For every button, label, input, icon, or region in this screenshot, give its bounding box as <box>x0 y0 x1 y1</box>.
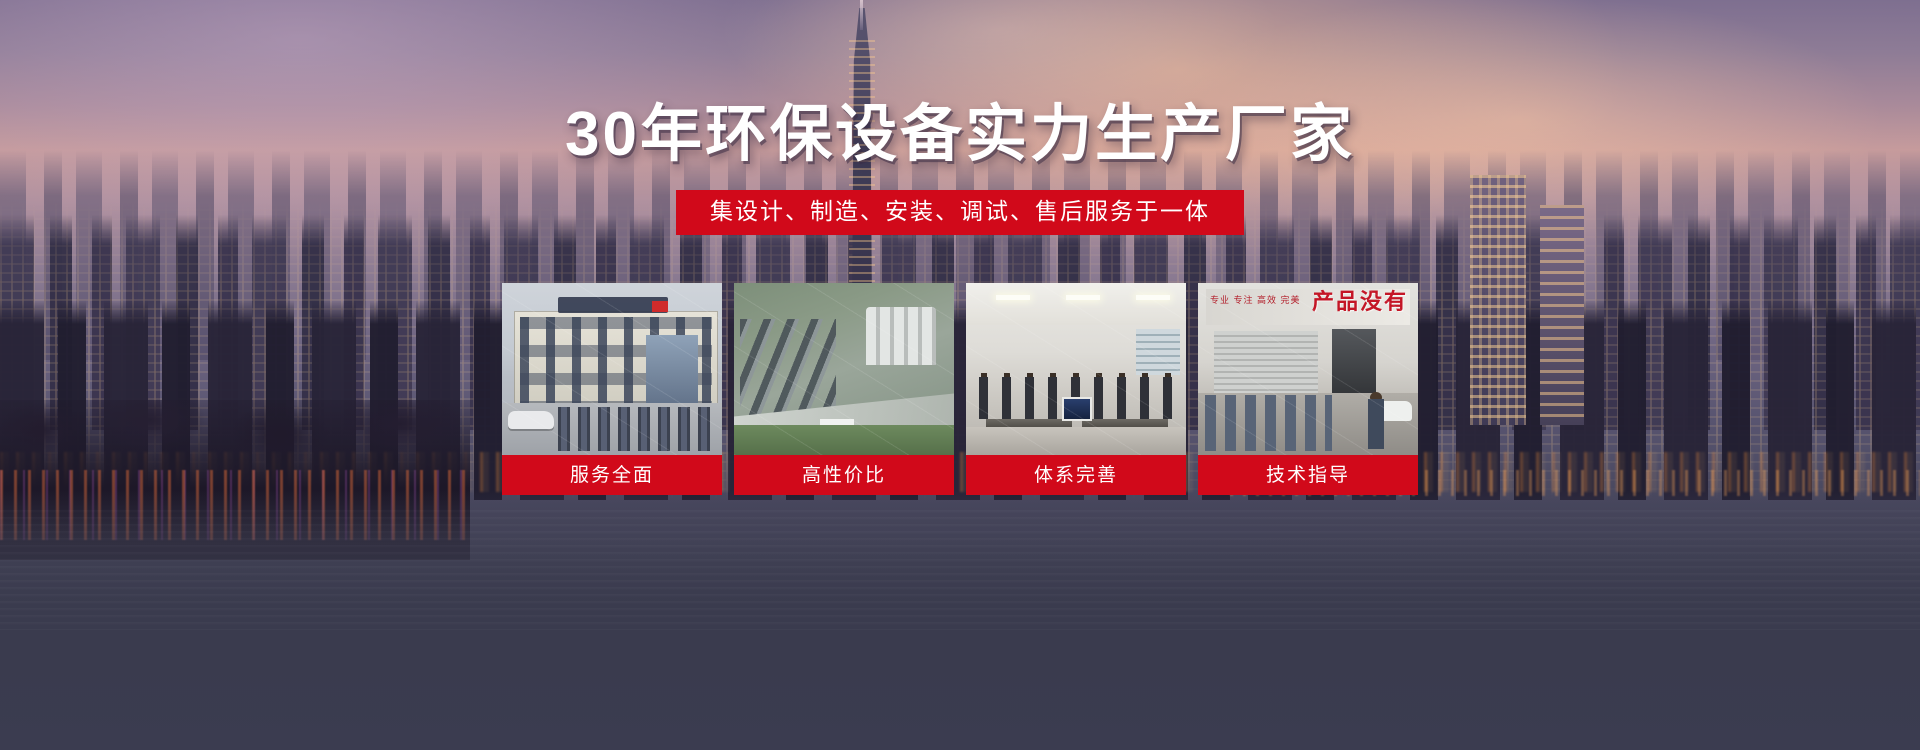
production-plant-illustration <box>734 283 954 455</box>
promo-card-photo-system <box>966 283 1186 455</box>
promo-card-photo-guidance: 专业 专注 高效 完美 产品没有 <box>1198 283 1418 455</box>
promo-card-photo-service <box>502 283 722 455</box>
promo-card-label-guidance: 技术指导 <box>1198 455 1418 495</box>
river-reflection <box>0 510 1920 630</box>
promo-card-strip: 服务全面 高性价比 <box>502 283 1418 495</box>
hero-banner: 30年环保设备实力生产厂家 集设计、制造、安装、调试、售后服务于一体 <box>0 0 1920 750</box>
promo-card-system[interactable]: 体系完善 <box>966 283 1186 495</box>
hero-subtitle-ribbon: 集设计、制造、安装、调试、售后服务于一体 <box>676 190 1244 235</box>
promo-card-service[interactable]: 服务全面 <box>502 283 722 495</box>
workshop-banner-text: 产品没有 <box>1312 291 1408 313</box>
hero-headline: 30年环保设备实力生产厂家 <box>0 104 1920 166</box>
office-building-illustration <box>502 283 722 455</box>
promo-card-label-service: 服务全面 <box>502 455 722 495</box>
workshop-slogan-small: 专业 专注 高效 完美 <box>1210 295 1301 307</box>
promo-card-photo-value <box>734 283 954 455</box>
office-interior-illustration <box>966 283 1186 455</box>
promo-card-label-system: 体系完善 <box>966 455 1186 495</box>
workshop-illustration: 专业 专注 高效 完美 产品没有 <box>1198 283 1418 455</box>
promo-card-label-value: 高性价比 <box>734 455 954 495</box>
right-highrise-one <box>1470 175 1526 425</box>
right-highrise-two <box>1540 205 1584 425</box>
promo-card-guidance[interactable]: 专业 专注 高效 完美 产品没有 技术指导 <box>1198 283 1418 495</box>
promo-card-value[interactable]: 高性价比 <box>734 283 954 495</box>
landmark-tower-spire <box>860 0 863 30</box>
